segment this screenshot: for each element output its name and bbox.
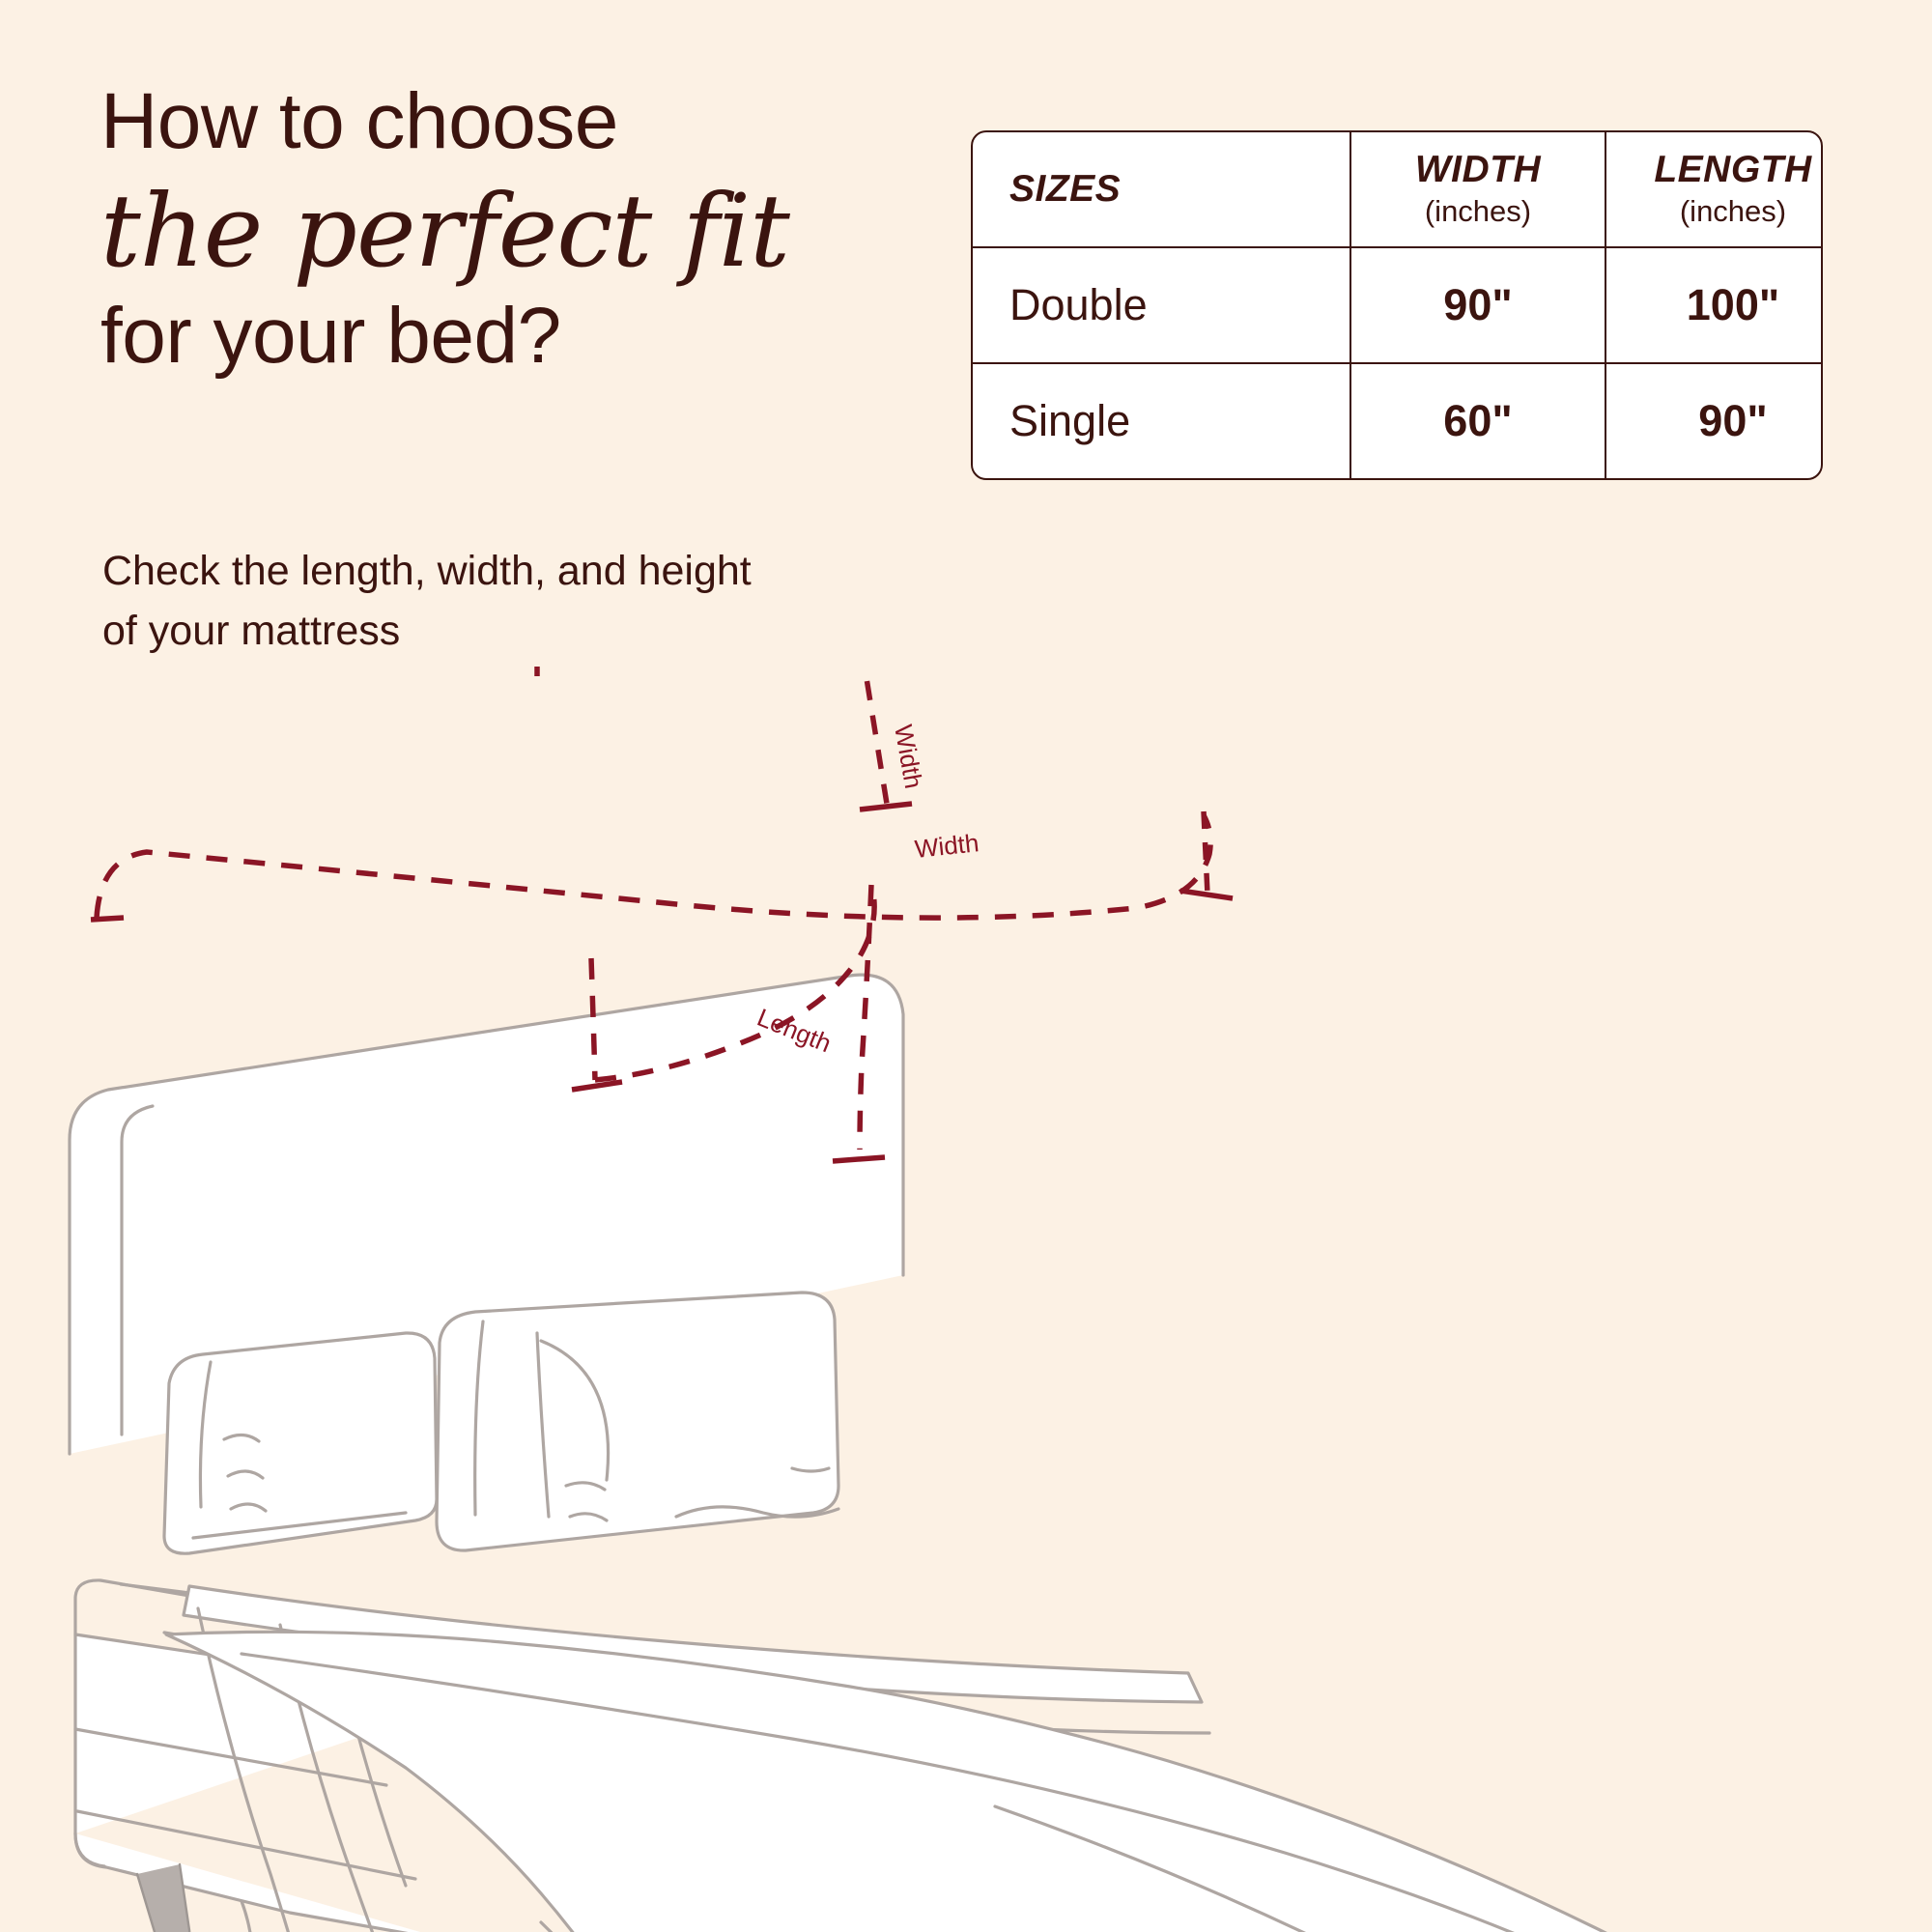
right-pillow [437,1293,838,1550]
pillow-width-label: Width [889,723,928,791]
size-table: SIZES WIDTH (inches) LENGTH (inches) Dou… [971,130,1823,480]
header-sizes: SIZES [973,132,1350,247]
dim-pillow-length-final [537,667,817,676]
heading-line-3: for your bed? [100,290,893,383]
header-width-sub: (inches) [1351,192,1605,231]
row-size-name: Double [973,247,1350,363]
duvet-width-tick-right [1180,891,1233,898]
heading-line-1: How to choose [100,75,893,168]
subtitle-text: Check the length, width, and height of y… [102,541,779,661]
header-width: WIDTH (inches) [1350,132,1605,247]
row-width-value: 90" [1350,247,1605,363]
pillow-width-tick-bottom [860,804,912,810]
bed-illustration: Length Width Width Length [0,667,1932,1932]
table-row: Double 90" 100" [973,247,1823,363]
duvet-width-dashed [97,815,1210,918]
header-length: LENGTH (inches) [1605,132,1823,247]
heading-line-2-italic: the perfect fit [100,174,893,288]
dim-duvet-width [91,811,1233,920]
left-pillow [164,1333,437,1553]
duvet-width-tick-left [91,918,124,920]
sizing-guide-page: How to choose the perfect fit for your b… [0,0,1932,1932]
duvet-width-label: Width [913,828,980,864]
header-width-main: WIDTH [1351,148,1605,192]
header-length-main: LENGTH [1606,148,1823,192]
header-length-sub: (inches) [1606,192,1823,231]
page-title: How to choose the perfect fit for your b… [100,75,893,383]
row-width-value: 60" [1350,363,1605,478]
row-length-value: 100" [1605,247,1823,363]
table-header-row: SIZES WIDTH (inches) LENGTH (inches) [973,132,1823,247]
pillow-width-dashed [856,667,887,804]
row-size-name: Single [973,363,1350,478]
row-length-value: 90" [1605,363,1823,478]
table-row: Single 60" 90" [973,363,1823,478]
bed-leg [137,1864,189,1932]
